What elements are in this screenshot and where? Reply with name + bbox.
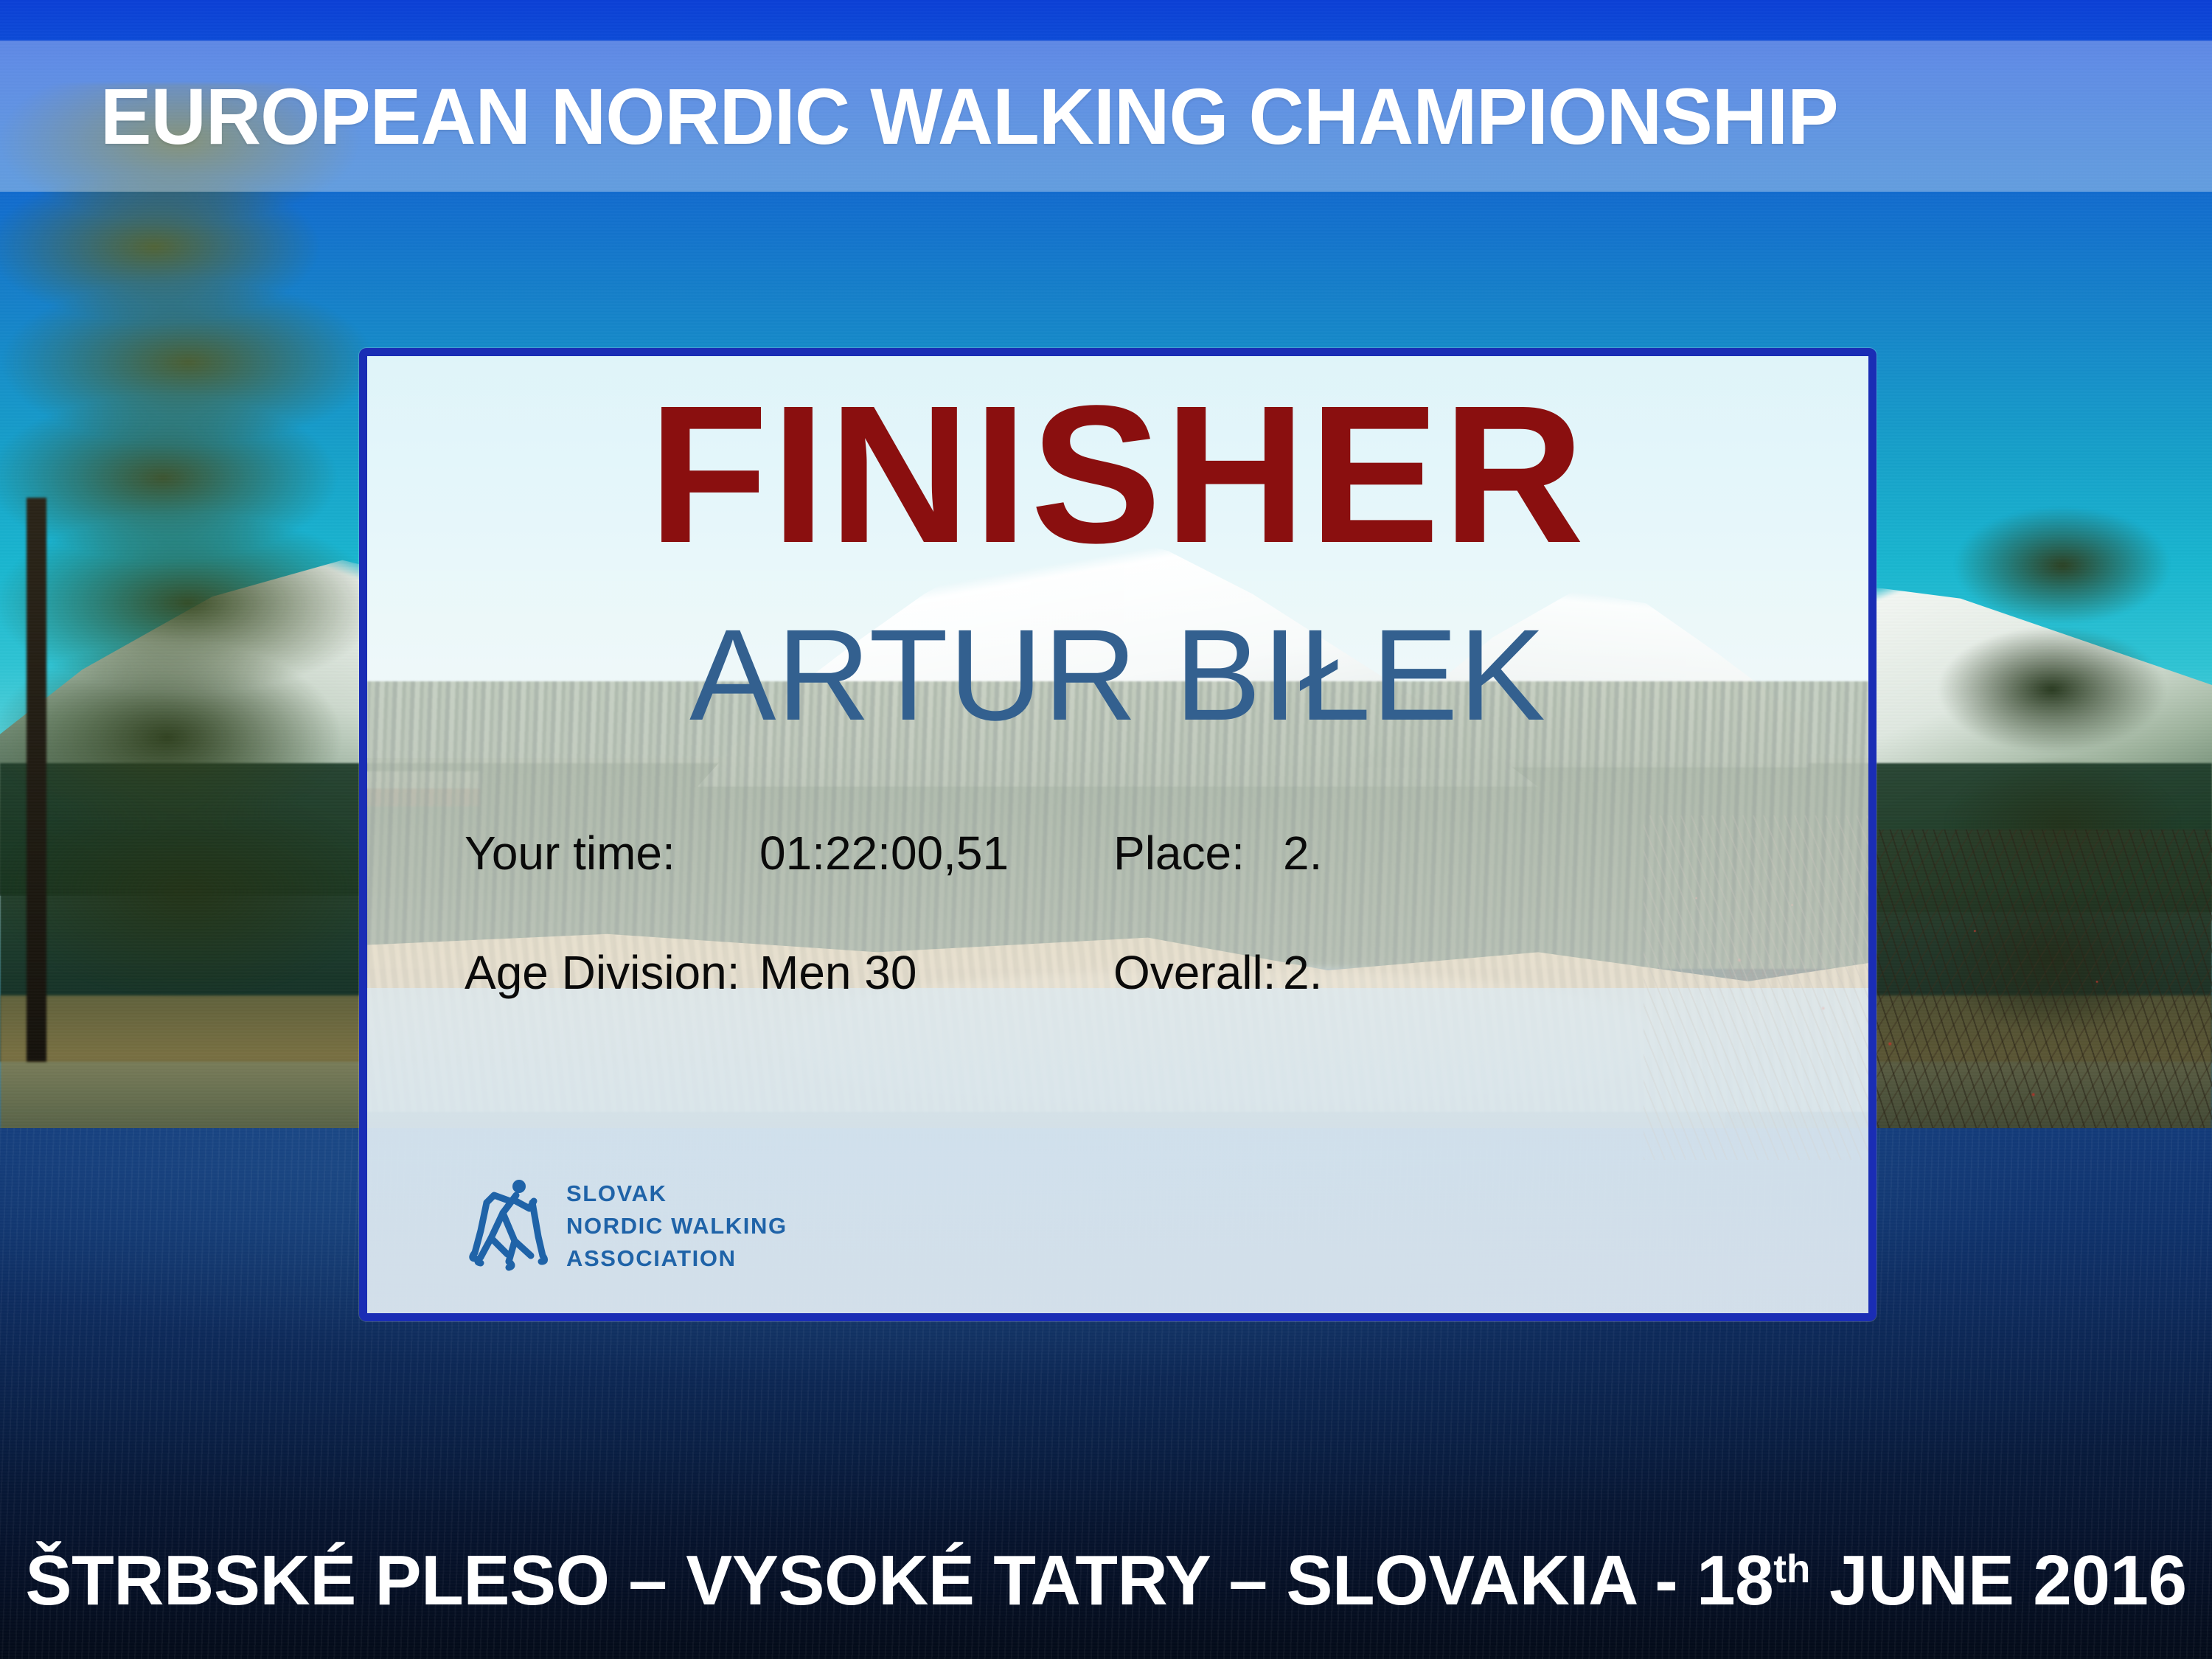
finisher-heading: FINISHER <box>367 377 1868 573</box>
association-logo: SLOVAK NORDIC WALKING ASSOCIATION <box>465 1178 787 1275</box>
age-division-label: Age Division: <box>465 949 759 996</box>
card-content: FINISHER ARTUR BIŁEK Your time: 01:22:00… <box>367 356 1868 1313</box>
your-time-label: Your time: <box>465 829 759 877</box>
footer-prefix: ŠTRBSKÉ PLESO – VYSOKÉ TATRY – SLOVAKIA … <box>25 1541 1773 1620</box>
logo-line-3: ASSOCIATION <box>566 1242 787 1275</box>
overall-label: Overall: <box>1113 949 1283 996</box>
age-division-value: Men 30 <box>759 949 1113 996</box>
result-row-division: Age Division: Men 30 Overall: 2. <box>465 949 1674 996</box>
finisher-certificate-poster: EUROPEAN NORDIC WALKING CHAMPIONSHIP FIN… <box>0 0 2212 1659</box>
event-title: EUROPEAN NORDIC WALKING CHAMPIONSHIP <box>100 77 1838 156</box>
logo-line-2: NORDIC WALKING <box>566 1210 787 1242</box>
overall-value: 2. <box>1283 949 1322 996</box>
place-value: 2. <box>1283 829 1322 877</box>
your-time-value: 01:22:00,51 <box>759 829 1113 877</box>
athlete-name: ARTUR BIŁEK <box>367 611 1868 740</box>
foreground-tree-left-icon <box>0 83 398 1046</box>
result-details: Your time: 01:22:00,51 Place: 2. Age Div… <box>465 829 1674 1068</box>
footer-ordinal-suffix: th <box>1773 1547 1810 1591</box>
footer-suffix: JUNE 2016 <box>1810 1541 2186 1620</box>
certificate-card: FINISHER ARTUR BIŁEK Your time: 01:22:00… <box>359 348 1877 1321</box>
place-label: Place: <box>1113 829 1283 877</box>
nordic-walker-icon <box>465 1179 552 1273</box>
logo-line-1: SLOVAK <box>566 1178 787 1210</box>
result-row-time: Your time: 01:22:00,51 Place: 2. <box>465 829 1674 877</box>
association-name: SLOVAK NORDIC WALKING ASSOCIATION <box>566 1178 787 1275</box>
tree-trunk <box>27 498 46 1062</box>
header-banner: EUROPEAN NORDIC WALKING CHAMPIONSHIP <box>0 41 2212 192</box>
footer-location-date: ŠTRBSKÉ PLESO – VYSOKÉ TATRY – SLOVAKIA … <box>17 1545 2196 1616</box>
